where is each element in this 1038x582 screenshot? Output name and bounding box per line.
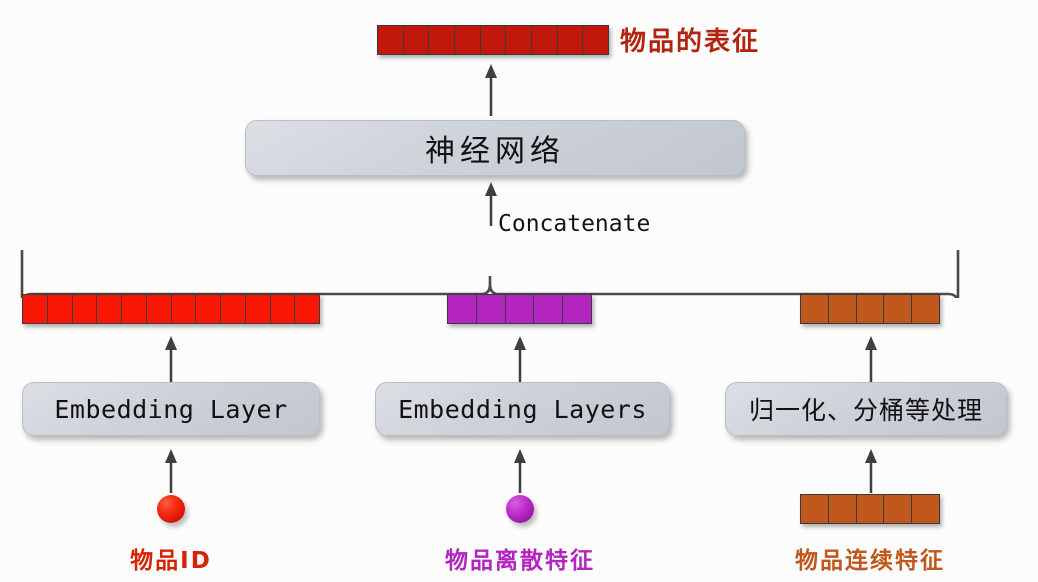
vector-cell <box>534 295 563 323</box>
vector-cell <box>912 295 939 323</box>
normalization-bucketing-box[interactable]: 归一化、分桶等处理 <box>725 382 1007 436</box>
arrow-item-id-to-embedding-layer <box>158 447 184 495</box>
vector-cell <box>801 495 829 523</box>
concatenate-brace <box>10 250 970 298</box>
item-id-embedding-vector <box>22 294 320 324</box>
vector-cell <box>912 495 939 523</box>
vector-cell <box>829 495 857 523</box>
arrow-normalization-to-vector <box>858 334 884 384</box>
vector-cell <box>429 26 455 54</box>
arrow-embedding-layer-to-vector <box>158 334 184 384</box>
vector-cell <box>481 26 507 54</box>
vector-cell <box>532 26 558 54</box>
item-discrete-embedding-vector <box>447 294 592 324</box>
item-continuous-processed-vector <box>800 294 940 324</box>
arrow-nn-to-output <box>478 62 504 118</box>
item-representation-label: 物品的表征 <box>620 21 760 58</box>
vector-cell <box>97 295 122 323</box>
vector-cell <box>196 295 221 323</box>
vector-cell <box>147 295 172 323</box>
vector-cell <box>48 295 73 323</box>
vector-cell <box>23 295 48 323</box>
neural-network-box[interactable]: 神经网络 <box>245 120 745 176</box>
concatenate-label: Concatenate <box>498 211 650 237</box>
vector-cell <box>857 495 885 523</box>
item-discrete-input-node <box>506 495 534 523</box>
diagram-canvas: 物品的表征 神经网络 Concatenate Embedding Layer E… <box>0 0 1038 582</box>
vector-cell <box>271 295 296 323</box>
vector-cell <box>378 26 404 54</box>
vector-cell <box>884 495 912 523</box>
vector-cell <box>884 295 912 323</box>
vector-cell <box>506 295 535 323</box>
arrow-embedding-layers-to-vector <box>507 334 533 384</box>
vector-cell <box>455 26 481 54</box>
item-id-input-node <box>157 495 185 523</box>
item-discrete-features-caption: 物品离散特征 <box>393 541 647 575</box>
vector-cell <box>801 295 829 323</box>
vector-cell <box>172 295 197 323</box>
arrow-continuous-to-normalization <box>858 447 884 495</box>
vector-cell <box>558 26 584 54</box>
vector-cell <box>563 295 591 323</box>
vector-cell <box>246 295 271 323</box>
vector-cell <box>73 295 98 323</box>
embedding-layer-box[interactable]: Embedding Layer <box>22 382 320 436</box>
vector-cell <box>295 295 319 323</box>
vector-cell <box>506 26 532 54</box>
item-id-caption: 物品ID <box>44 541 298 575</box>
item-representation-vector <box>377 25 609 55</box>
vector-cell <box>477 295 506 323</box>
vector-cell <box>583 26 608 54</box>
vector-cell <box>448 295 477 323</box>
embedding-layers-box[interactable]: Embedding Layers <box>375 382 670 436</box>
arrow-discrete-to-embedding-layers <box>507 447 533 495</box>
vector-cell <box>122 295 147 323</box>
item-continuous-features-caption: 物品连续特征 <box>743 541 997 575</box>
vector-cell <box>404 26 430 54</box>
vector-cell <box>221 295 246 323</box>
vector-cell <box>857 295 885 323</box>
item-continuous-input-vector <box>800 494 940 524</box>
vector-cell <box>829 295 857 323</box>
